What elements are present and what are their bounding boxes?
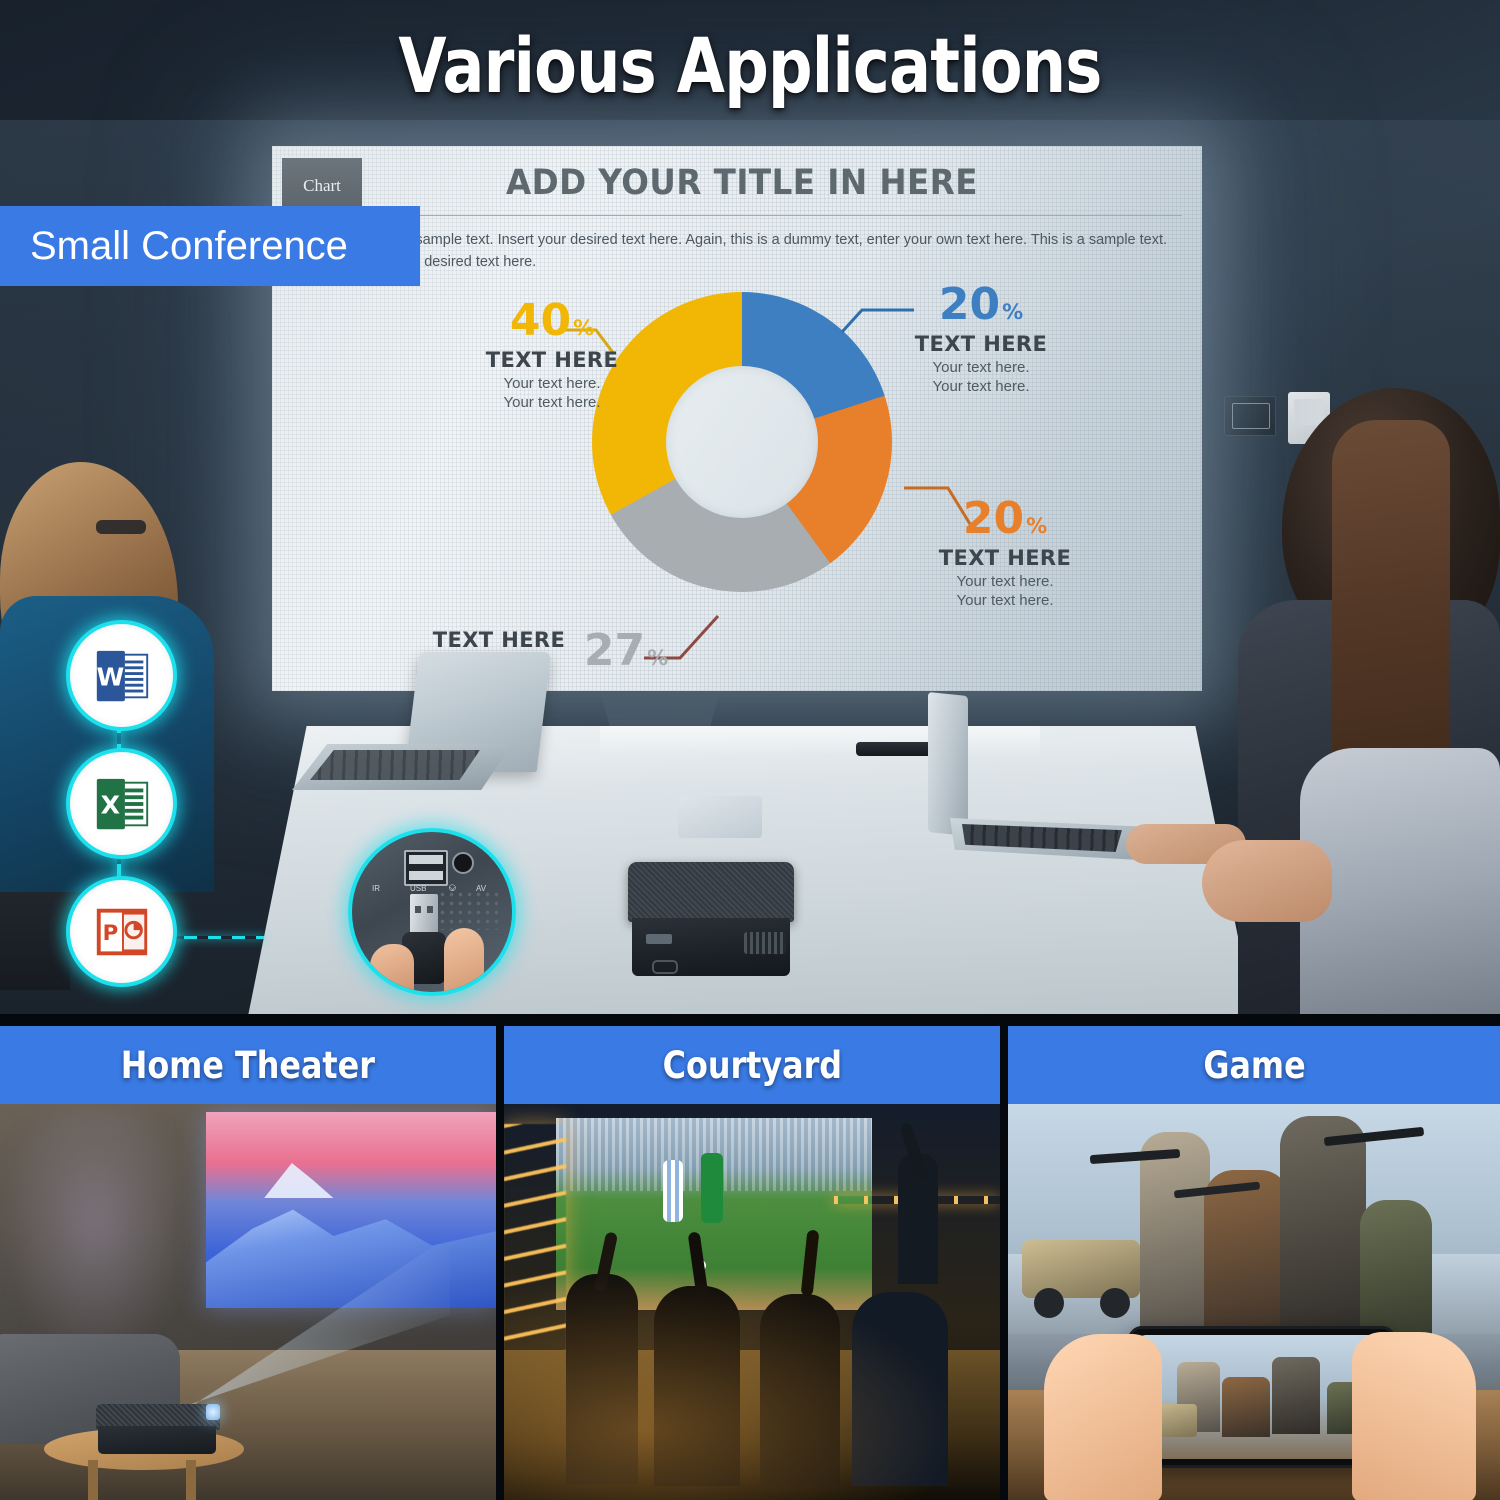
game-character-1 bbox=[1140, 1132, 1210, 1338]
warm-light-glow bbox=[504, 1254, 1000, 1500]
panel-courtyard-label: Courtyard bbox=[662, 1044, 841, 1087]
excel-glyph: X bbox=[91, 773, 153, 835]
pct-suffix: % bbox=[1002, 300, 1023, 324]
desk-accessory bbox=[678, 796, 762, 838]
port-label-usb: USB bbox=[410, 884, 426, 893]
headphone-icon: ⎉ bbox=[448, 882, 457, 895]
home-projector-lens bbox=[206, 1404, 220, 1420]
phone-screen bbox=[1137, 1335, 1387, 1459]
wall-reflection bbox=[0, 1104, 190, 1364]
word-icon[interactable]: W bbox=[66, 620, 177, 731]
usb-stick-connector bbox=[410, 894, 438, 934]
svg-text:P: P bbox=[102, 920, 118, 945]
chart-sub1-yellow: Your text here. bbox=[452, 374, 652, 394]
mountain-ridge bbox=[206, 1188, 496, 1308]
slide-divider bbox=[392, 215, 1182, 216]
table-leg-2 bbox=[186, 1460, 196, 1500]
donut-center-hole bbox=[666, 366, 818, 518]
player-argentina bbox=[663, 1160, 683, 1222]
chart-heading-yellow: TEXT HERE bbox=[452, 348, 652, 372]
table-highlight bbox=[600, 726, 1040, 756]
pct-suffix: % bbox=[1026, 514, 1047, 538]
snow-peak bbox=[264, 1163, 334, 1198]
product-feature-image: Various Applications Chart ADD YOUR TITL… bbox=[0, 0, 1500, 1500]
player-nigeria bbox=[701, 1153, 723, 1223]
pct-suffix: % bbox=[647, 646, 668, 670]
hand-left bbox=[1044, 1334, 1162, 1500]
badge-small-conference: Small Conference bbox=[0, 206, 420, 286]
slide-body-text: s a sample text. Insert your desired tex… bbox=[392, 229, 1192, 274]
chart-label-yellow: 40% TEXT HERE Your text here. Your text … bbox=[452, 300, 652, 413]
chart-label-blue: 20% TEXT HERE Your text here. Your text … bbox=[866, 284, 1096, 397]
panel-game-label: Game bbox=[1203, 1044, 1305, 1087]
game-character-3 bbox=[1280, 1116, 1366, 1340]
chart-pct-gray: 27 bbox=[584, 625, 645, 676]
finger-left bbox=[370, 944, 414, 992]
chart-sub1-blue: Your text here. bbox=[866, 358, 1096, 378]
home-projector-body bbox=[98, 1426, 216, 1454]
projector-vent bbox=[744, 932, 786, 954]
slide-chart-tab[interactable]: Chart bbox=[282, 158, 362, 213]
vehicle-wheel-2 bbox=[1100, 1288, 1130, 1318]
projected-mountain-image bbox=[206, 1112, 496, 1308]
usb-port-pair bbox=[404, 850, 448, 886]
game-character-4 bbox=[1360, 1200, 1432, 1346]
chart-heading-blue: TEXT HERE bbox=[866, 332, 1096, 356]
chart-pct-blue: 20 bbox=[939, 279, 1000, 330]
usb-port-closeup: IR USB ⎉ AV bbox=[348, 828, 516, 996]
powerpoint-glyph: P bbox=[91, 901, 153, 963]
chart-sub2-orange: Your text here. bbox=[890, 591, 1120, 611]
slide-body-line-1: s a sample text. Insert your desired tex… bbox=[392, 229, 1192, 251]
vehicle-wheel-1 bbox=[1034, 1288, 1064, 1318]
chart-pct-orange: 20 bbox=[963, 493, 1024, 544]
chart-pct-gray-wrap: 27% bbox=[556, 630, 696, 672]
page-title: Various Applications bbox=[135, 28, 1365, 104]
laptop-left-keyboard bbox=[310, 750, 480, 780]
projector-logo bbox=[646, 934, 672, 944]
slide-title: ADD YOUR TITLE IN HERE bbox=[417, 163, 1068, 203]
word-glyph: W bbox=[91, 645, 153, 707]
port-label-ir: IR bbox=[372, 884, 380, 893]
laptop-right-lid bbox=[928, 692, 968, 836]
panel-home-theater-header: Home Theater bbox=[0, 1026, 496, 1104]
chart-sub1-orange: Your text here. bbox=[890, 572, 1120, 592]
panel-courtyard-body bbox=[504, 1104, 1000, 1500]
chart-heading-orange: TEXT HERE bbox=[890, 546, 1120, 570]
panel-home-theater-body bbox=[0, 1104, 496, 1500]
slide-body-line-2: your desired text here. bbox=[392, 251, 1192, 273]
chart-sub2-blue: Your text here. bbox=[866, 377, 1096, 397]
panel-game-header: Game bbox=[1008, 1026, 1500, 1104]
projector-power-port bbox=[652, 960, 678, 974]
panel-courtyard-header: Courtyard bbox=[504, 1026, 1000, 1104]
game-character-2 bbox=[1204, 1170, 1290, 1346]
chart-sub2-yellow: Your text here. bbox=[452, 393, 652, 413]
badge-small-conference-label: Small Conference bbox=[30, 224, 348, 269]
chart-pct-yellow: 40 bbox=[510, 295, 571, 346]
panel-courtyard: Courtyard bbox=[504, 1026, 1000, 1500]
wall-switch[interactable] bbox=[1224, 396, 1276, 436]
powerpoint-icon[interactable]: P bbox=[66, 876, 177, 987]
woman-right-hands bbox=[1202, 840, 1332, 922]
chart-label-orange: 20% TEXT HERE Your text here. Your text … bbox=[890, 498, 1120, 611]
panel-game-body bbox=[1008, 1104, 1500, 1500]
projector-top-grille bbox=[628, 862, 794, 922]
table-leg-1 bbox=[88, 1460, 98, 1500]
panel-home-theater-label: Home Theater bbox=[121, 1044, 375, 1087]
panel-home-theater: Home Theater bbox=[0, 1026, 496, 1500]
svg-text:W: W bbox=[96, 662, 124, 691]
port-label-av: AV bbox=[476, 884, 486, 893]
pct-suffix: % bbox=[573, 316, 594, 340]
hand-right bbox=[1352, 1332, 1476, 1500]
conference-scene: Various Applications Chart ADD YOUR TITL… bbox=[0, 0, 1500, 1014]
finger-right bbox=[444, 928, 484, 992]
panel-game: Game bbox=[1008, 1026, 1500, 1500]
glasses-icon bbox=[96, 520, 146, 534]
av-jack bbox=[452, 852, 474, 874]
svg-text:X: X bbox=[100, 790, 119, 819]
excel-icon[interactable]: X bbox=[66, 748, 177, 859]
speaker-grille bbox=[438, 890, 498, 930]
application-panels: Home Theater bbox=[0, 1014, 1500, 1500]
